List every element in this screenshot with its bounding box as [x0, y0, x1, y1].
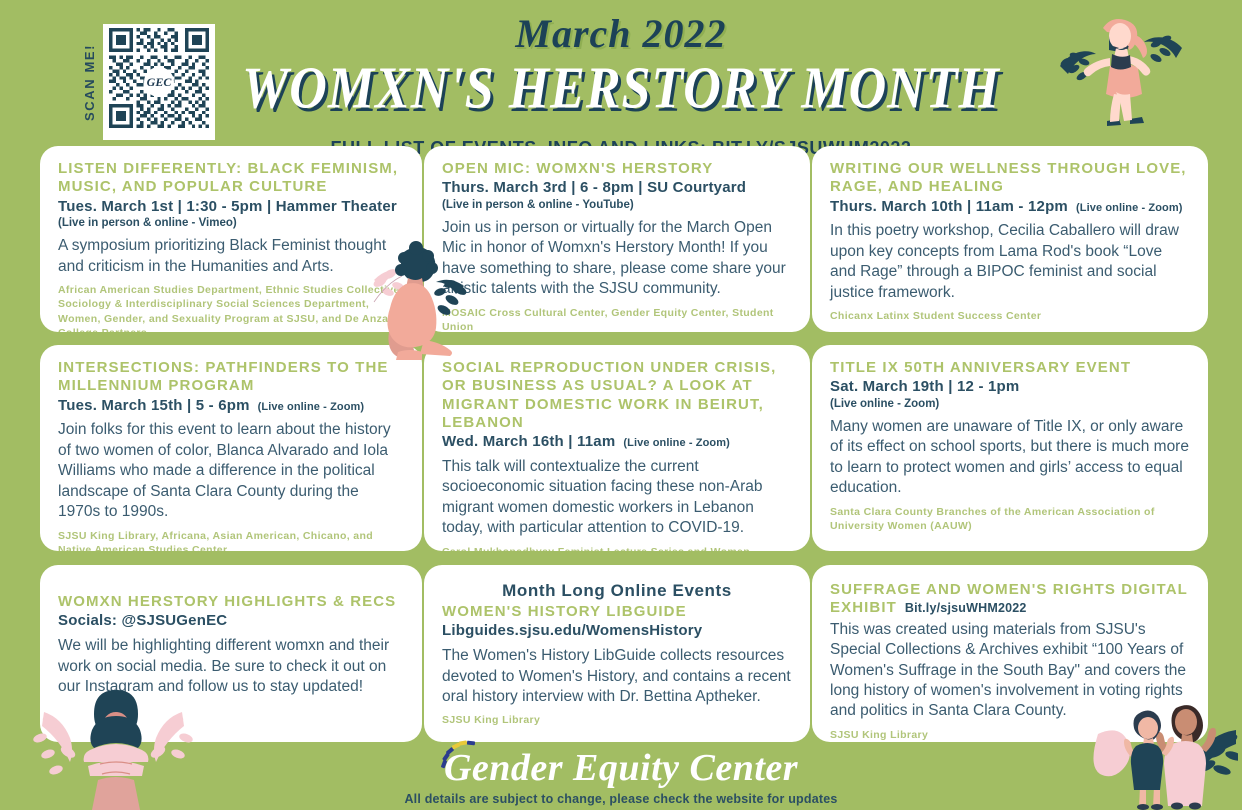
- event-datetime: Tues. March 1st | 1:30 - 5pm | Hammer Th…: [58, 198, 404, 217]
- event-card-herstory-highlights[interactable]: WOMXN HERSTORY HIGHLIGHTS & RECS Socials…: [40, 565, 422, 742]
- event-datetime: Thurs. March 10th | 11am - 12pm(Live onl…: [830, 198, 1190, 217]
- event-title: SOCIAL REPRODUCTION UNDER CRISIS, OR BUS…: [442, 359, 792, 432]
- event-title: INTERSECTIONS: PATHFINDERS TO THE MILLEN…: [58, 359, 404, 396]
- event-mode: (Live online - Zoom): [830, 397, 1190, 412]
- logo-text: Gender Equity Center: [444, 747, 798, 789]
- event-organizers: Santa Clara County Branches of the Ameri…: [830, 505, 1190, 533]
- event-mode: (Live in person & online - YouTube): [442, 198, 792, 213]
- event-mode: (Live online - Zoom): [258, 401, 365, 413]
- event-card-title-ix[interactable]: TITLE IX 50TH ANNIVERSARY EVENT Sat. Mar…: [812, 345, 1208, 551]
- sun-rays-icon: [438, 740, 482, 772]
- event-organizers: SJSU King Library: [830, 728, 1190, 742]
- event-title: WOMEN'S HISTORY LIBGUIDE: [442, 603, 792, 621]
- event-url[interactable]: Libguides.sjsu.edu/WomensHistory: [442, 622, 792, 641]
- event-organizers: MOSAIC Cross Cultural Center, Gender Equ…: [442, 306, 792, 332]
- event-mode: (Live online - Zoom): [623, 437, 730, 449]
- event-organizers: SJSU King Library, Africana, Asian Ameri…: [58, 529, 404, 551]
- event-card-writing-our-wellness[interactable]: WRITING OUR WELLNESS THROUGH LOVE, RAGE,…: [812, 146, 1208, 332]
- event-card-open-mic[interactable]: OPEN MIC: WOMXN'S HERSTORY Thurs. March …: [424, 146, 810, 332]
- event-organizers: SJSU King Library: [442, 713, 792, 727]
- event-title: SUFFRAGE AND WOMEN'S RIGHTS DIGITAL EXHI…: [830, 581, 1190, 618]
- event-title: WOMXN HERSTORY HIGHLIGHTS & RECS: [58, 593, 404, 611]
- event-description: A symposium prioritizing Black Feminist …: [58, 236, 404, 277]
- event-datetime: Wed. March 16th | 11am(Live online - Zoo…: [442, 433, 792, 452]
- event-card-suffrage-exhibit[interactable]: SUFFRAGE AND WOMEN'S RIGHTS DIGITAL EXHI…: [812, 565, 1208, 742]
- poster-footer: Gender Equity Center All details are sub…: [0, 742, 1242, 810]
- event-datetime-text: Thurs. March 10th | 11am - 12pm: [830, 198, 1068, 215]
- event-datetime: Sat. March 19th | 12 - 1pm: [830, 378, 1190, 397]
- event-description: In this poetry workshop, Cecilia Caballe…: [830, 221, 1190, 303]
- poster-header: SCAN ME!: [0, 0, 1242, 146]
- event-title: WRITING OUR WELLNESS THROUGH LOVE, RAGE,…: [830, 160, 1190, 197]
- event-mode: (Live in person & online - Vimeo): [58, 216, 404, 231]
- event-description: The Women's History LibGuide collects re…: [442, 646, 792, 707]
- section-heading-month-long: Month Long Online Events: [442, 581, 792, 601]
- event-socials-handle[interactable]: Socials: @SJSUGenEC: [58, 612, 404, 631]
- event-title: OPEN MIC: WOMXN'S HERSTORY: [442, 160, 792, 178]
- event-mode: (Live online - Zoom): [1076, 202, 1183, 214]
- event-organizers: Carol Mukhopadhyay Feminist Lecture Seri…: [442, 545, 792, 551]
- event-title: LISTEN DIFFERENTLY: BLACK FEMINISM, MUSI…: [58, 160, 404, 197]
- event-title: TITLE IX 50TH ANNIVERSARY EVENT: [830, 359, 1190, 377]
- event-card-womens-history-libguide[interactable]: Month Long Online Events WOMEN'S HISTORY…: [424, 565, 810, 742]
- event-datetime-text: Tues. March 15th | 5 - 6pm: [58, 397, 250, 414]
- gender-equity-center-logo: Gender Equity Center: [444, 746, 798, 790]
- footer-disclaimer: All details are subject to change, pleas…: [0, 792, 1242, 806]
- event-card-intersections-pathfinders[interactable]: INTERSECTIONS: PATHFINDERS TO THE MILLEN…: [40, 345, 422, 551]
- event-card-listen-differently[interactable]: LISTEN DIFFERENTLY: BLACK FEMINISM, MUSI…: [40, 146, 422, 332]
- woman-dancing-illustration: [1046, 6, 1196, 136]
- event-url[interactable]: Bit.ly/sjsuWHM2022: [905, 601, 1027, 615]
- event-datetime: Tues. March 15th | 5 - 6pm(Live online -…: [58, 397, 404, 416]
- event-description: Join folks for this event to learn about…: [58, 420, 404, 522]
- event-datetime: Thurs. March 3rd | 6 - 8pm | SU Courtyar…: [442, 179, 792, 198]
- event-description: This was created using materials from SJ…: [830, 620, 1190, 722]
- event-description: We will be highlighting different womxn …: [58, 636, 404, 697]
- event-organizers: Chicanx Latinx Student Success Center: [830, 309, 1190, 323]
- event-description: Join us in person or virtually for the M…: [442, 218, 792, 300]
- event-datetime-text: Wed. March 16th | 11am: [442, 433, 615, 450]
- event-card-social-reproduction[interactable]: SOCIAL REPRODUCTION UNDER CRISIS, OR BUS…: [424, 345, 810, 551]
- event-description: Many women are unaware of Title IX, or o…: [830, 417, 1190, 499]
- event-description: This talk will contextualize the current…: [442, 457, 792, 539]
- event-organizers: African American Studies Department, Eth…: [58, 283, 404, 332]
